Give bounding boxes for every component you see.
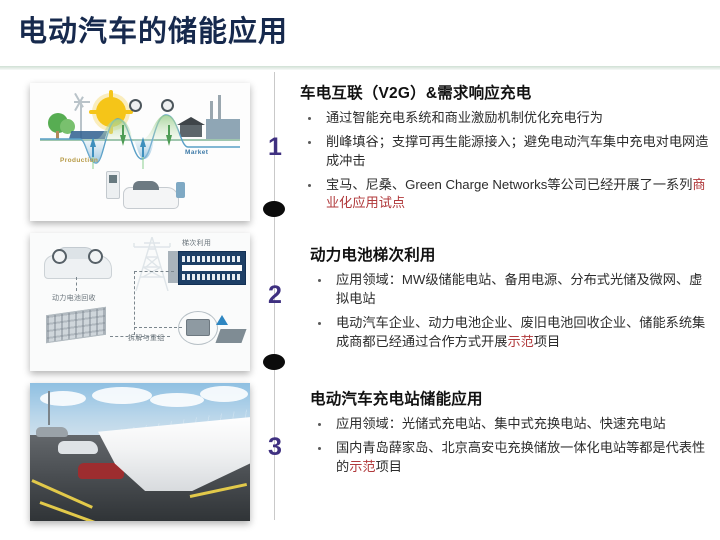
timeline-dot-1 xyxy=(263,201,285,217)
power-wave-graphic xyxy=(30,113,250,183)
ev-wheel-2 xyxy=(88,249,103,264)
timeline-number-2: 2 xyxy=(262,281,288,310)
bullet-text-highlight: 示范 xyxy=(507,334,533,349)
bullet-item: 宝马、尼桑、Green Charge Networks等公司已经开展了一系列商业… xyxy=(300,176,712,213)
cloud-4 xyxy=(200,386,248,402)
cloud-2 xyxy=(92,387,152,404)
cloud-3 xyxy=(150,393,204,407)
bullet-text-post: 项目 xyxy=(376,459,402,474)
charging-post-icon xyxy=(106,171,120,199)
illustration-v2g-diagram: Production Market xyxy=(30,83,250,221)
label-market: Market xyxy=(185,149,208,156)
section-3-heading: 电动汽车充电站储能应用 xyxy=(310,390,712,409)
illustration-solar-carport xyxy=(30,383,250,521)
bullet-item: 应用领域：MW级储能电站、备用电源、分布式光储及微网、虚拟电站 xyxy=(300,271,712,308)
section-battery-cascade: 动力电池梯次利用 应用领域：MW级储能电站、备用电源、分布式光储及微网、虚拟电站… xyxy=(300,246,712,356)
rack-row-2 xyxy=(182,265,242,271)
bullet-text-post: 项目 xyxy=(534,334,560,349)
rack-row-1 xyxy=(182,256,242,262)
storage-rack-icon xyxy=(178,251,246,285)
timeline-dot-2 xyxy=(263,354,285,370)
dashed-connector-4 xyxy=(134,271,174,272)
ev-wheel-1 xyxy=(52,249,67,264)
battery-icon xyxy=(176,182,185,198)
timeline-number-1: 1 xyxy=(262,133,288,162)
bullet-text-pre: 应用领域：光储式充电站、集中式充换电站、快速充电站 xyxy=(336,416,666,431)
dashed-connector-3 xyxy=(134,271,135,335)
car-wheel-2 xyxy=(161,99,174,112)
light-pole-icon xyxy=(48,391,50,425)
bullet-text-highlight: 示范 xyxy=(349,459,375,474)
timeline-number-3: 3 xyxy=(262,433,288,462)
bullet-item: 国内青岛薛家岛、北京高安屯充换储放一体化电站等都是代表性的示范项目 xyxy=(300,439,712,476)
dashed-connector-1 xyxy=(76,277,77,291)
label-disassemble-reassemble: 拆解与重组 xyxy=(128,333,165,343)
rack-row-3 xyxy=(182,274,242,280)
section-1-bullets: 通过智能充电系统和商业激励机制优化充电行为 削峰填谷；支撑可再生能源接入；避免电… xyxy=(300,109,712,213)
cloud-1 xyxy=(40,391,86,406)
bullet-item: 削峰填谷；支撑可再生能源接入；避免电动汽车集中充电对电网造成冲击 xyxy=(300,133,712,170)
car-wheel-1 xyxy=(129,99,142,112)
section-charging-station: 电动汽车充电站储能应用 应用领域：光储式充电站、集中式充换电站、快速充电站 国内… xyxy=(300,390,712,482)
page-title: 电动汽车的储能应用 xyxy=(18,18,288,47)
section-v2g: 车电互联（V2G）&需求响应充电 通过智能充电系统和商业激励机制优化充电行为 削… xyxy=(300,84,712,218)
label-production: Production xyxy=(60,157,98,164)
module-wedge xyxy=(215,329,246,343)
dashed-connector-5 xyxy=(134,327,182,328)
section-3-bullets: 应用领域：光储式充电站、集中式充换电站、快速充电站 国内青岛薛家岛、北京高安屯充… xyxy=(300,415,712,476)
bullet-item: 应用领域：光储式充电站、集中式充换电站、快速充电站 xyxy=(300,415,712,434)
parked-car-grey xyxy=(36,427,68,437)
bullet-text-pre: 应用领域：MW级储能电站、备用电源、分布式光储及微网、虚拟电站 xyxy=(336,272,702,306)
parked-car-white xyxy=(58,441,98,454)
section-2-bullets: 应用领域：MW级储能电站、备用电源、分布式光储及微网、虚拟电站 电动汽车企业、动… xyxy=(300,271,712,351)
label-battery-recycle: 动力电池回收 xyxy=(52,293,96,303)
bullet-text-pre: 通过智能充电系统和商业激励机制优化充电行为 xyxy=(326,110,603,125)
section-1-heading: 车电互联（V2G）&需求响应充电 xyxy=(300,84,712,103)
header-divider xyxy=(0,66,720,70)
bullet-item: 电动汽车企业、动力电池企业、废旧电池回收企业、储能系统集成商都已经通过合作方式开… xyxy=(300,314,712,351)
illustration-battery-cascade: 梯次利用 动力电池回收 拆解与重组 xyxy=(30,233,250,371)
up-arrow-icon xyxy=(216,315,228,325)
bullet-text-pre: 宝马、尼桑、Green Charge Networks等公司已经开展了一系列 xyxy=(326,177,692,192)
bullet-text-pre: 削峰填谷；支撑可再生能源接入；避免电动汽车集中充电对电网造成冲击 xyxy=(326,134,708,168)
electric-car-icon xyxy=(123,187,179,209)
small-battery-icon xyxy=(186,319,210,336)
bullet-item: 通过智能充电系统和商业激励机制优化充电行为 xyxy=(300,109,712,128)
label-cascade-use: 梯次利用 xyxy=(182,238,211,248)
section-2-heading: 动力电池梯次利用 xyxy=(310,246,712,265)
